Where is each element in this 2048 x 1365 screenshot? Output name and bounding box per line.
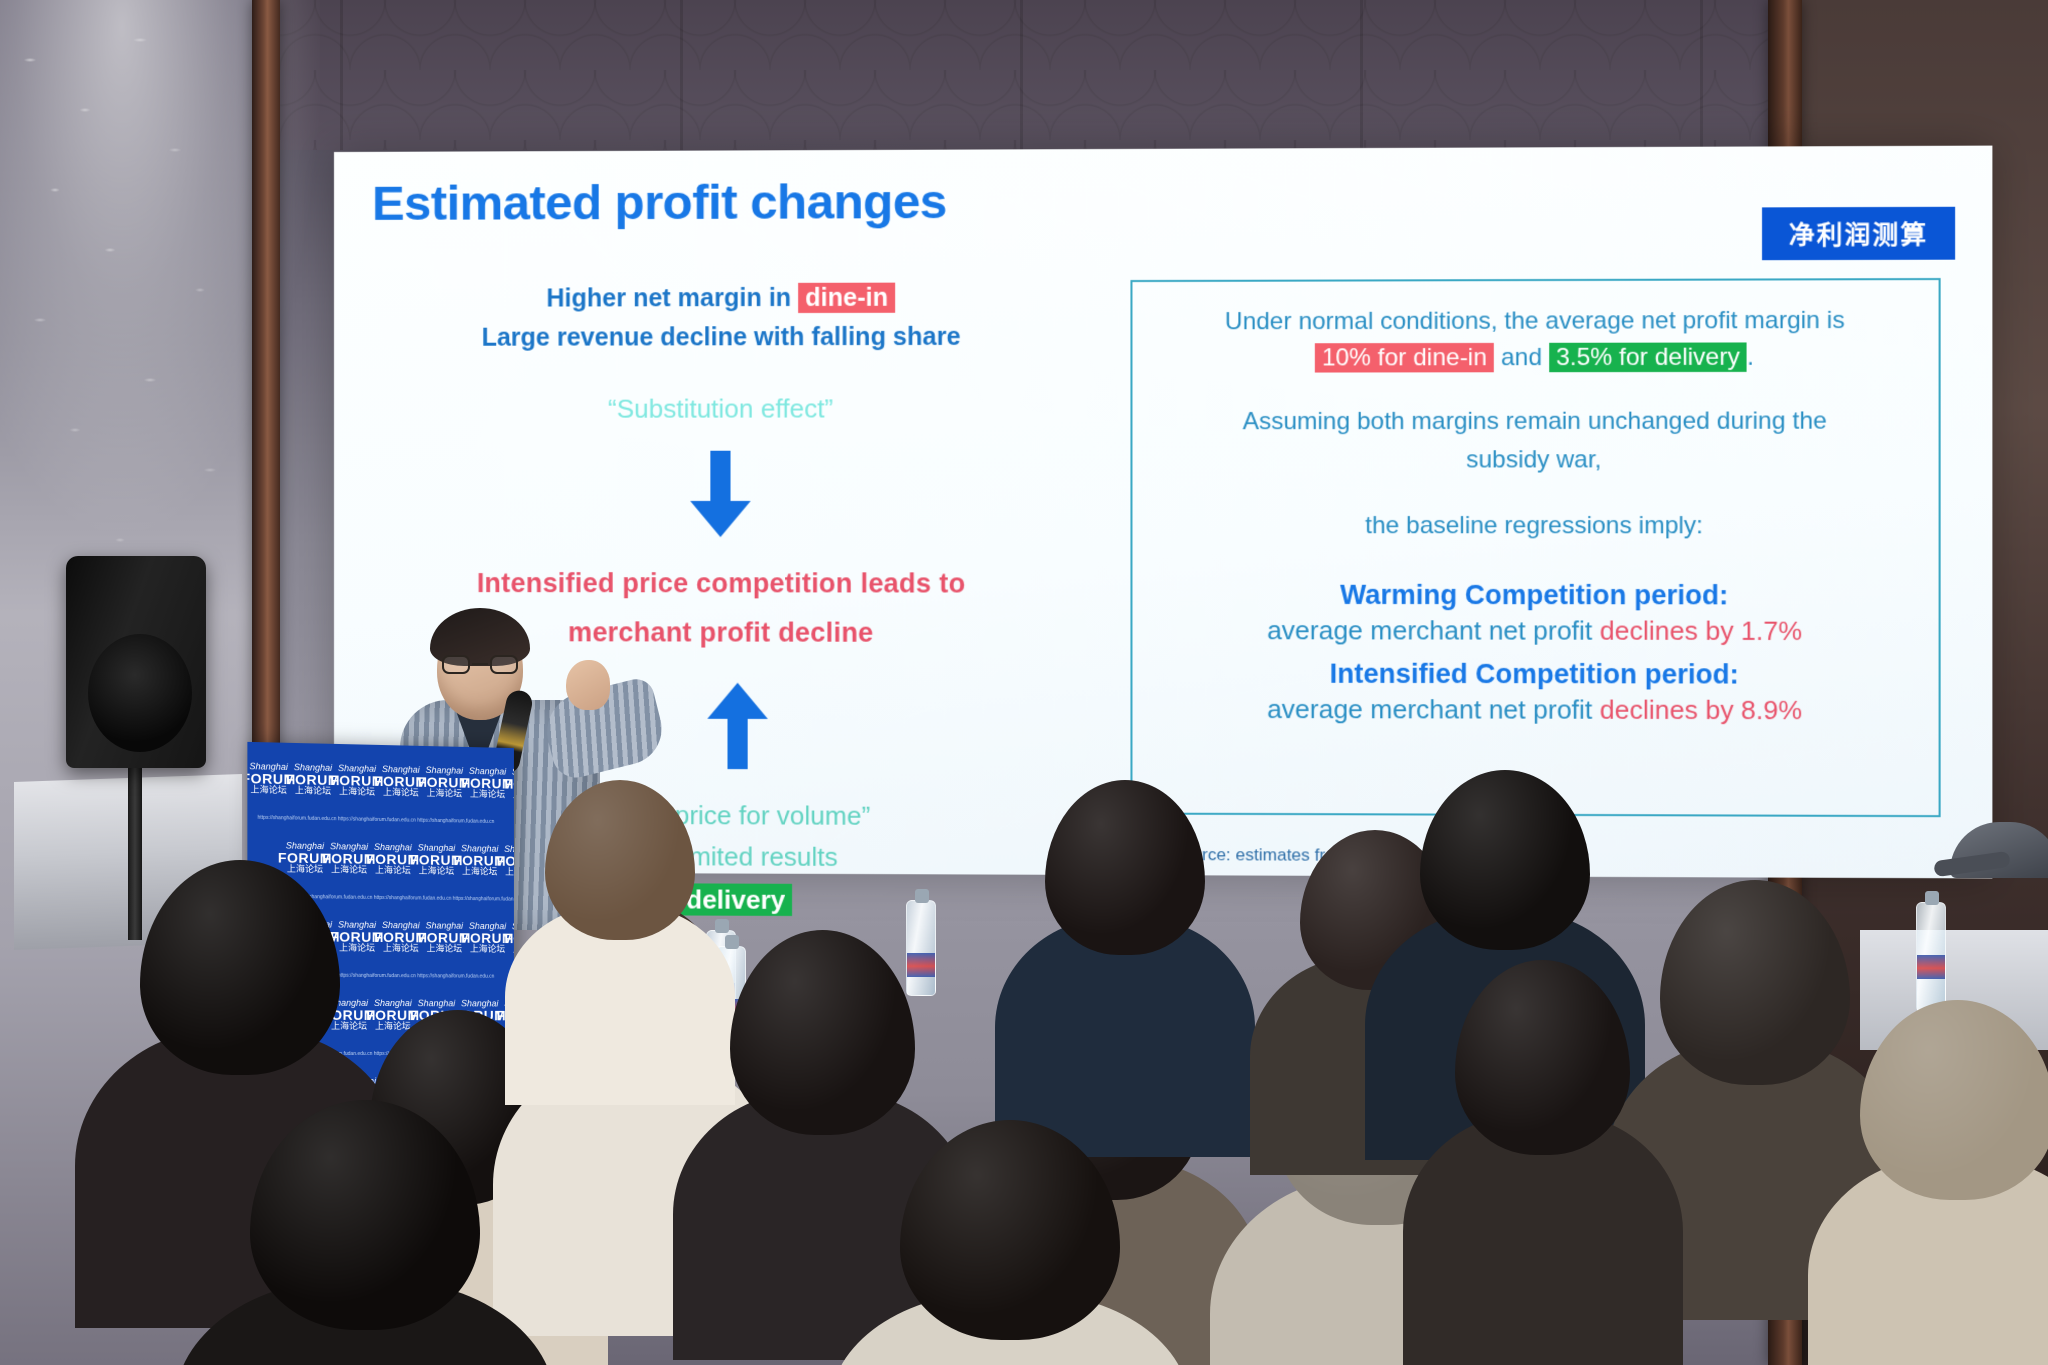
panel-result-intensified-value: declines by 8.9% [1600,695,1802,726]
water-bottle [1916,902,1946,1012]
panel-assume-line-1: Assuming both margins remain unchanged d… [1159,402,1912,442]
ceiling-lattice-panels [0,0,2048,150]
podium-logo-line3: 上海论坛 [500,945,514,955]
panel-heading-intensified: Intensified Competition period: [1159,658,1912,691]
podium-logo: ShanghaiFORUM上海论坛 [492,845,513,878]
panel-spacer-3 [1159,545,1912,572]
presenter-hand [566,660,610,710]
pa-loudspeaker [66,556,206,768]
podium-logo: ShanghaiFORUM上海论坛 [500,768,514,801]
panel-result-warming-value: declines by 1.7% [1600,616,1802,647]
left-line-2: Large revenue decline with falling share [354,317,1090,357]
panel-highlight-delivery: 3.5% for delivery [1549,342,1747,372]
podium-logo-line3: 上海论坛 [500,791,514,801]
panel-assume-line-2: subsidy war, [1159,441,1912,480]
left-line-1: Higher net margin in dine-in [354,278,1090,319]
left-line-1-prefix: Higher net margin in [546,284,798,313]
panel-spacer-2 [1159,480,1912,506]
water-bottle [906,900,936,996]
arrow-down-icon [688,450,753,536]
speaker-stand [128,760,142,940]
panel-result-intensified-prefix: average merchant net profit [1267,694,1600,725]
glasses-lens-left [442,655,470,674]
conference-photo-scene: Estimated profit changes 净利润测算 Higher ne… [0,0,2048,1365]
podium-logo-line2: FORUM [500,777,514,792]
panel-intro-line-1: Under normal conditions, the average net… [1159,303,1912,341]
panel-result-warming-prefix: average merchant net profit [1267,615,1600,646]
podium-url: https://shanghaiforum.fudan.edu.cn https… [258,815,495,825]
panel-result-intensified: average merchant net profit declines by … [1159,690,1912,731]
panel-intro-mid: and [1494,344,1549,371]
substitution-effect-label: “Substitution effect” [354,393,1090,425]
panel-heading-warming: Warming Competition period: [1159,580,1912,612]
podium-logo-line2: FORUM [500,931,514,946]
slide-title: Estimated profit changes [372,174,947,232]
glasses-bridge [472,663,488,665]
podium-logo: ShanghaiFORUM上海论坛 [500,922,514,955]
bottom-line-3-highlight: delivery [679,883,792,916]
slide-right-panel: Under normal conditions, the average net… [1130,278,1940,817]
panel-highlight-dinein: 10% for dine-in [1315,343,1494,373]
glasses-lens-right [490,655,518,674]
middle-line-1: Intensified price competition leads to [354,559,1090,610]
panel-intro-tail: . [1747,343,1754,370]
lattice-pattern [0,0,2048,150]
arrow-down-wrap [354,450,1090,537]
panel-spacer-1 [1159,376,1912,403]
panel-result-warming: average merchant net profit declines by … [1159,611,1912,651]
podium-logo-line3: 上海论坛 [492,868,513,878]
panel-intro-line-2: 10% for dine-in and 3.5% for delivery. [1159,339,1912,377]
left-line-1-highlight: dine-in [798,283,895,313]
panel-assume-line-3: the baseline regressions imply: [1159,507,1912,546]
podium-url: https://shanghaiforum.fudan.edu.cn https… [294,894,514,903]
arrow-up-icon [705,683,770,770]
slide-badge-chinese: 净利润测算 [1762,207,1955,260]
presenter-glasses-icon [441,655,519,675]
